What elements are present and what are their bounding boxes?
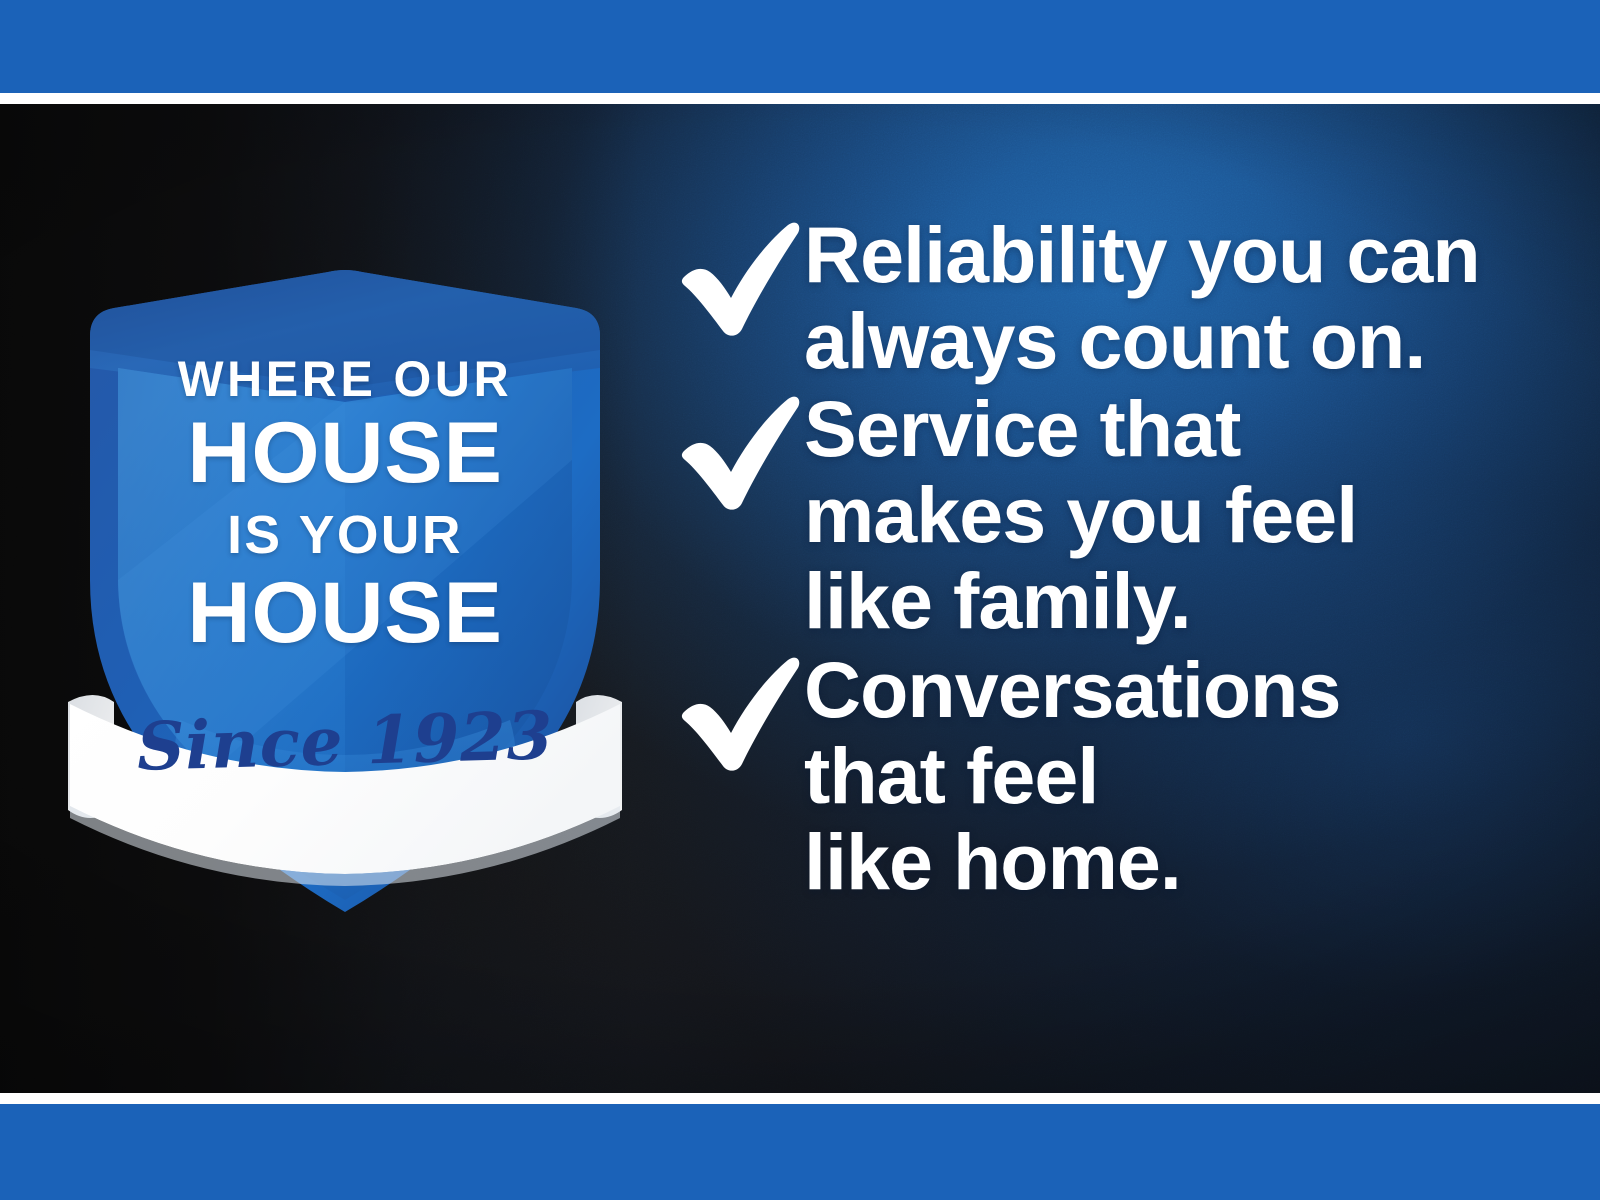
promo-poster: WHERE OUR HOUSE IS YOUR HOUSE Since 1923…	[0, 0, 1600, 1200]
bottom-divider	[0, 1093, 1600, 1104]
list-item: Conversations that feel like home.	[672, 645, 1552, 905]
value-proposition-list: Reliability you can always count on. Ser…	[672, 200, 1552, 905]
top-brand-bar	[0, 0, 1600, 93]
list-item-line: that feel	[804, 733, 1552, 819]
list-item-line: makes you feel	[804, 472, 1552, 558]
list-item: Service that makes you feel like family.	[672, 384, 1552, 644]
list-item: Reliability you can always count on.	[672, 210, 1552, 384]
list-item-text: Reliability you can always count on.	[804, 210, 1552, 384]
top-divider	[0, 93, 1600, 104]
list-item-line: Conversations	[804, 647, 1552, 733]
content-stage: WHERE OUR HOUSE IS YOUR HOUSE Since 1923…	[0, 104, 1600, 1093]
list-item-line: Reliability you can	[804, 212, 1552, 298]
checkmark-icon	[672, 390, 804, 514]
list-item-line: like family.	[804, 558, 1552, 644]
list-item-line: always count on.	[804, 298, 1552, 384]
bottom-brand-bar	[0, 1104, 1600, 1200]
list-item-line: like home.	[804, 819, 1552, 905]
checkmark-icon	[672, 651, 804, 775]
list-item-text: Conversations that feel like home.	[804, 645, 1552, 905]
list-item-line: Service that	[804, 386, 1552, 472]
shield-badge: WHERE OUR HOUSE IS YOUR HOUSE Since 1923	[60, 250, 630, 930]
checkmark-icon	[672, 216, 804, 340]
list-item-text: Service that makes you feel like family.	[804, 384, 1552, 644]
